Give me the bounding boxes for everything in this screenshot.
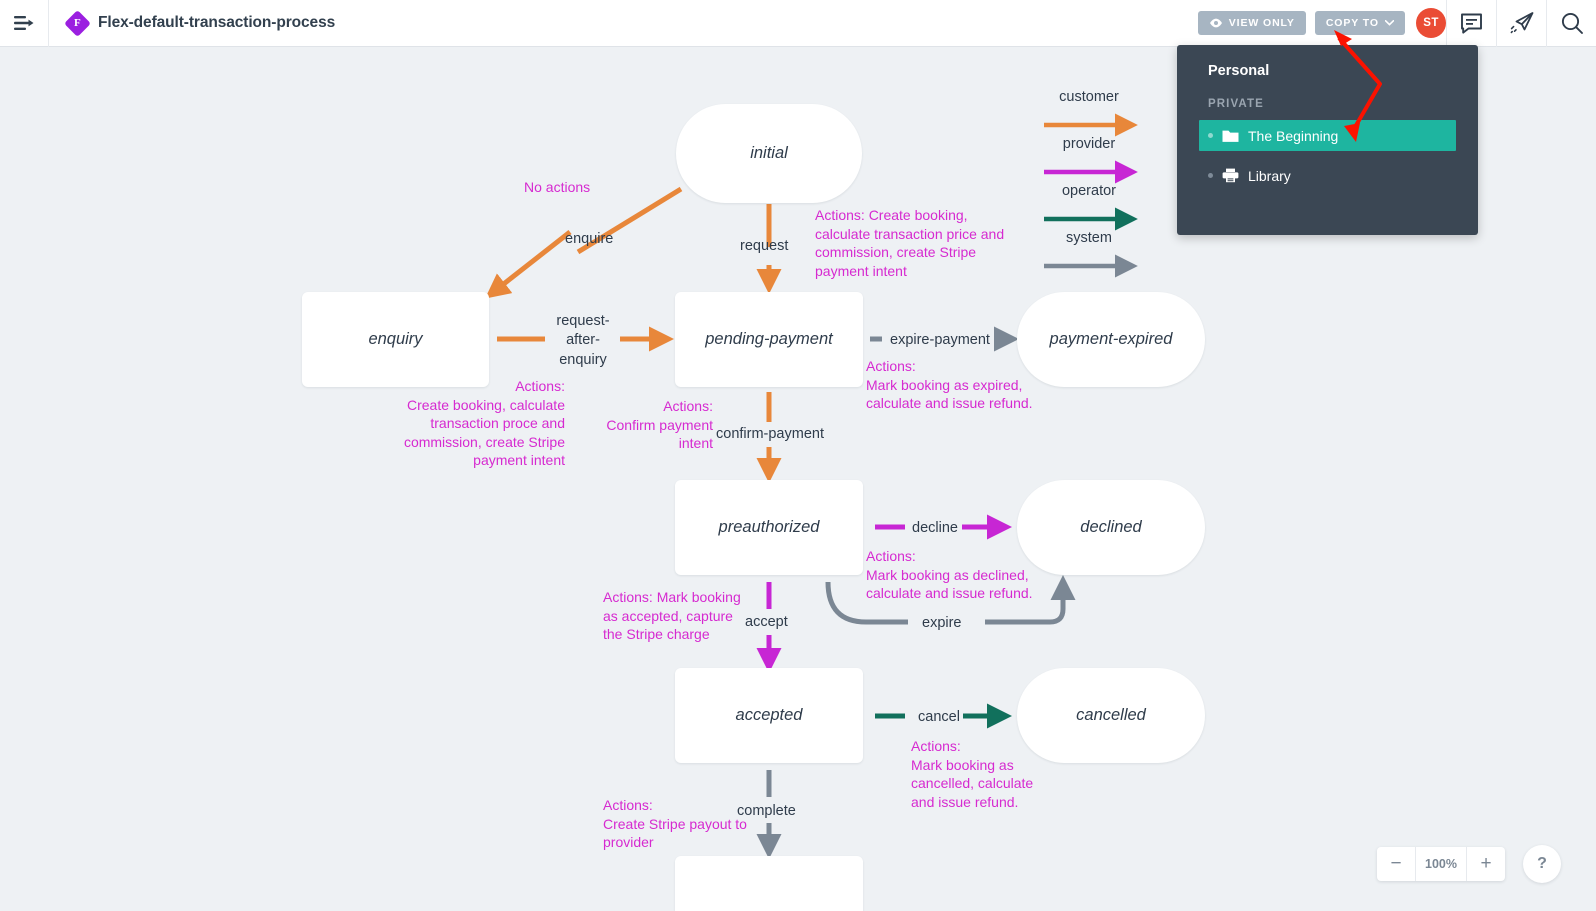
help-button[interactable]: ? (1523, 845, 1561, 883)
share-button[interactable] (1496, 0, 1546, 47)
edge-label-request-after-enquiry: request- after- enquiry (545, 312, 621, 370)
legend-item-provider: provider (1039, 137, 1139, 184)
dropdown-item-label: The Beginning (1248, 128, 1338, 144)
zoom-in-button[interactable]: + (1467, 847, 1505, 881)
chevron-down-icon (1385, 20, 1394, 26)
comments-button[interactable] (1446, 0, 1496, 47)
copy-to-label: COPY TO (1326, 17, 1379, 29)
node-pending-payment[interactable]: pending-payment (675, 292, 863, 387)
node-delivered[interactable] (675, 856, 863, 911)
edge-label-expire: expire (922, 614, 962, 633)
node-label: initial (750, 144, 788, 163)
bullet-icon (1208, 133, 1213, 138)
zoom-out-button[interactable]: − (1377, 847, 1415, 881)
view-only-label: VIEW ONLY (1229, 17, 1295, 29)
edge-label-confirm-payment: confirm-payment (716, 425, 824, 444)
node-enquiry[interactable]: enquiry (302, 292, 489, 387)
legend-label: operator (1039, 184, 1139, 199)
edge-label-request: request (740, 237, 788, 256)
node-label: enquiry (368, 330, 422, 349)
zoom-controls: − 100% + (1377, 847, 1505, 881)
node-preauthorized[interactable]: preauthorized (675, 480, 863, 575)
node-label: accepted (736, 706, 803, 725)
dropdown-item-label: Library (1248, 168, 1291, 184)
node-label: declined (1080, 518, 1141, 537)
copy-to-dropdown-panel[interactable]: Personal PRIVATE The Beginning Library (1177, 45, 1478, 235)
folder-icon (1222, 129, 1239, 143)
edge-label-decline: decline (912, 519, 958, 538)
edge-actions-decline: Actions: Mark booking as declined, calcu… (866, 547, 1081, 603)
node-accepted[interactable]: accepted (675, 668, 863, 763)
document-title-group: F Flex-default-transaction-process (49, 0, 335, 47)
edge-actions-request-after-enquiry: Actions: Create booking, calculate trans… (365, 377, 565, 470)
legend: customer provider operator system (1039, 90, 1139, 278)
dropdown-item-library[interactable]: Library (1199, 160, 1456, 191)
app-root: F Flex-default-transaction-process VIEW … (0, 0, 1596, 911)
edge-actions-accept: Actions: Mark booking as accepted, captu… (603, 588, 755, 644)
edge-actions-cancel: Actions: Mark booking as cancelled, calc… (911, 737, 1056, 811)
archive-icon (1222, 168, 1239, 183)
view-only-button[interactable]: VIEW ONLY (1198, 11, 1306, 35)
toolbar-actions: VIEW ONLY COPY TO ST (1198, 0, 1596, 47)
node-label: preauthorized (719, 518, 820, 537)
legend-item-customer: customer (1039, 90, 1139, 137)
edge-label-cancel: cancel (918, 708, 960, 727)
avatar-initials: ST (1423, 17, 1439, 29)
node-label: cancelled (1076, 706, 1146, 725)
legend-label: provider (1039, 137, 1139, 152)
legend-item-operator: operator (1039, 184, 1139, 231)
search-icon (1560, 11, 1584, 35)
menu-arrow-icon (13, 15, 35, 31)
legend-label: customer (1039, 90, 1139, 105)
edge-label-enquire: enquire (565, 230, 613, 249)
search-button[interactable] (1546, 0, 1596, 47)
legend-item-system: system (1039, 231, 1139, 278)
zoom-level-value: 100% (1415, 847, 1467, 881)
flex-logo-icon: F (64, 10, 91, 37)
sidebar-toggle-button[interactable] (0, 0, 49, 47)
page-title: Flex-default-transaction-process (98, 14, 335, 32)
dropdown-item-the-beginning[interactable]: The Beginning (1199, 120, 1456, 151)
edge-actions-complete: Actions: Create Stripe payout to provide… (603, 796, 771, 852)
edge-actions-request: Actions: Create booking, calculate trans… (815, 206, 1045, 280)
eye-icon (1209, 18, 1223, 28)
flex-logo-letter: F (74, 17, 81, 28)
edge-label-expire-payment: expire-payment (890, 331, 990, 350)
node-label: payment-expired (1050, 330, 1173, 349)
edge-actions-expire-payment: Actions: Mark booking as expired, calcul… (866, 357, 1081, 413)
legend-label: system (1039, 231, 1139, 246)
copy-to-button[interactable]: COPY TO (1315, 11, 1405, 35)
bullet-icon (1208, 173, 1213, 178)
node-label: pending-payment (705, 330, 833, 349)
node-initial[interactable]: initial (676, 104, 862, 203)
edge-actions-confirm-payment: Actions: Confirm payment intent (560, 397, 713, 453)
edge-actions-enquire: No actions (524, 178, 590, 197)
share-icon (1509, 11, 1535, 35)
dropdown-spacer (1199, 151, 1456, 160)
dropdown-section-label: PRIVATE (1208, 98, 1456, 110)
dropdown-header: Personal (1208, 63, 1456, 79)
comment-icon (1460, 13, 1483, 34)
avatar[interactable]: ST (1416, 8, 1446, 38)
top-toolbar: F Flex-default-transaction-process VIEW … (0, 0, 1596, 47)
